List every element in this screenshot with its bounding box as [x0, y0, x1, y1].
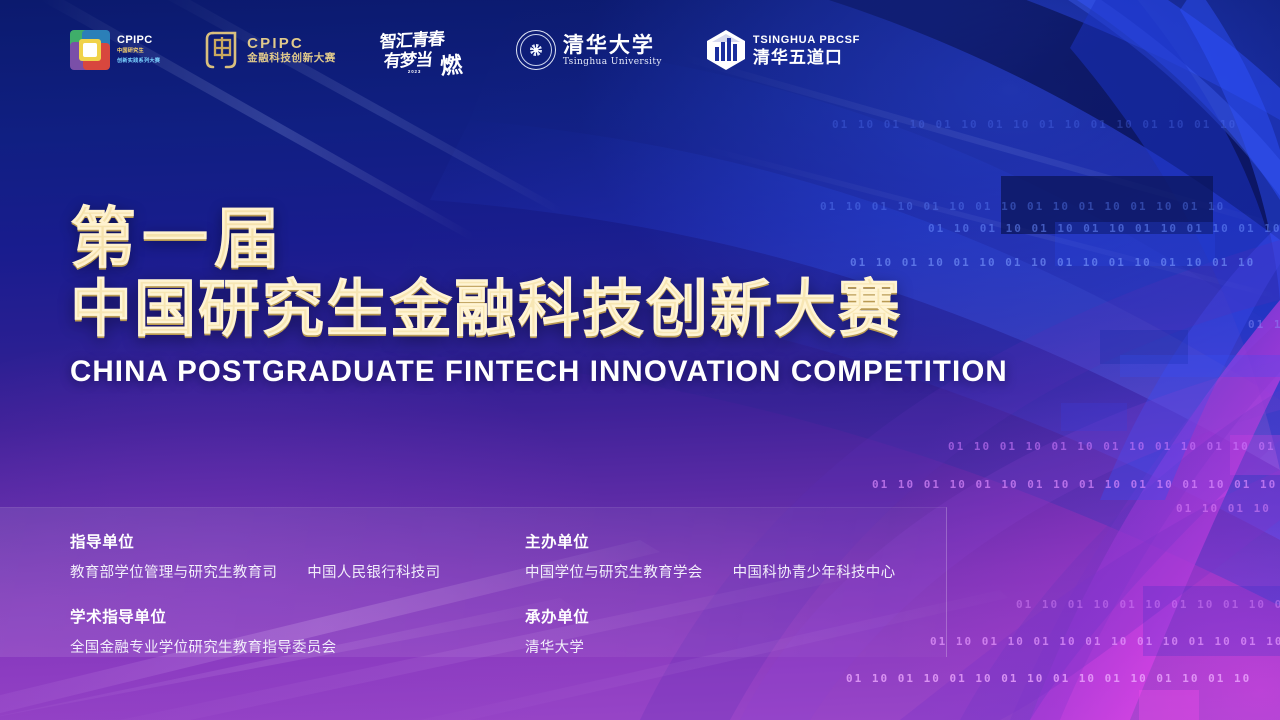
group-items: 清华大学 [525, 636, 895, 657]
binary-row: 01 10 01 10 01 10 01 10 01 10 01 10 01 1… [930, 635, 1280, 648]
binary-row: 01 10 01 10 01 10 01 10 01 10 01 10 01 1… [846, 672, 1251, 685]
group-items: 教育部学位管理与研究生教育司 中国人民银行科技司 [70, 561, 525, 582]
binary-row: 01 10 01 10 01 10 01 10 01 10 01 10 01 1… [1176, 502, 1280, 515]
binary-row: 01 10 01 10 01 10 01 10 01 10 01 10 01 1… [872, 478, 1277, 491]
pbcsf-cn: 清华五道口 [753, 49, 860, 66]
group-heading: 学术指导单位 [70, 605, 525, 627]
callig-year: 2023 [408, 69, 421, 74]
glow-pink [1050, 520, 1280, 720]
title-english: CHINA POSTGRADUATE FINTECH INNOVATION CO… [70, 355, 1008, 389]
title-main: 中国研究生金融科技创新大赛 [70, 278, 1008, 342]
logo1-cn1: 中国研究生 [117, 48, 160, 55]
sponsor-logo-bar: CPIPC 中国研究生 创新实践系列大赛 CPIPC 金融科技创新大赛 智汇青春… [0, 0, 1280, 100]
logo1-en: CPIPC [117, 35, 160, 46]
title-block: 第一届 中国研究生金融科技创新大赛 CHINA POSTGRADUATE FIN… [70, 205, 1008, 389]
logo-cpipc-gold[interactable]: CPIPC 金融科技创新大赛 [204, 23, 336, 77]
cpipc-gold-icon [204, 30, 240, 70]
tsinghua-cn: 清华大学 [563, 34, 662, 55]
callig-line3: 燃 [438, 47, 463, 81]
logo-tsinghua-pbcsf[interactable]: TSINGHUA PBCSF 清华五道口 [706, 23, 860, 77]
organizers-right-column: 主办单位 中国学位与研究生教育学会 中国科协青少年科技中心 承办单位 清华大学 [525, 530, 895, 657]
group-items: 中国学位与研究生教育学会 中国科协青少年科技中心 [525, 561, 895, 582]
org-item: 全国金融专业学位研究生教育指导委员会 [70, 636, 336, 657]
calligraphy-icon: 智汇青春 有梦当 燃 2023 [380, 24, 472, 76]
poster-stage: 01 10 01 10 01 10 01 10 01 10 01 10 01 1… [0, 0, 1280, 720]
callig-line2: 有梦当 [383, 45, 433, 72]
pbcsf-en: TSINGHUA PBCSF [753, 35, 860, 46]
logo2-en: CPIPC [247, 36, 336, 51]
org-item: 中国学位与研究生教育学会 [525, 561, 703, 582]
org-item: 清华大学 [525, 636, 584, 657]
logo-tsinghua-university[interactable]: 清华大学 Tsinghua University [516, 23, 662, 77]
tsinghua-en: Tsinghua University [563, 58, 662, 67]
logo-cpipc-color-emblem[interactable]: CPIPC 中国研究生 创新实践系列大赛 [70, 23, 160, 77]
title-edition: 第一届 [70, 205, 1008, 272]
tsinghua-seal-icon [516, 30, 556, 70]
binary-row: 01 10 01 10 01 10 01 10 01 10 01 10 01 1… [948, 440, 1280, 453]
binary-row: 01 10 01 10 01 10 01 10 01 10 01 10 01 1… [1016, 598, 1280, 611]
cpipc-color-emblem-icon [70, 30, 110, 70]
binary-row: 01 10 01 10 01 10 01 10 01 10 01 10 01 1… [832, 118, 1237, 131]
logo1-cn2: 创新实践系列大赛 [117, 58, 160, 65]
group-heading: 指导单位 [70, 530, 525, 552]
organizers-panel: 指导单位 教育部学位管理与研究生教育司 中国人民银行科技司 学术指导单位 全国金… [0, 507, 947, 657]
pbcsf-building-icon [706, 29, 746, 71]
group-heading: 承办单位 [525, 605, 895, 627]
group-heading: 主办单位 [525, 530, 895, 552]
group-items: 全国金融专业学位研究生教育指导委员会 [70, 636, 525, 657]
org-item: 教育部学位管理与研究生教育司 [70, 561, 277, 582]
org-item: 中国人民银行科技司 [307, 561, 440, 582]
binary-row: 01 10 01 10 01 10 01 10 01 10 01 10 01 1… [1248, 318, 1280, 331]
logo-calligraphy-slogan[interactable]: 智汇青春 有梦当 燃 2023 [380, 23, 472, 77]
organizers-left-column: 指导单位 教育部学位管理与研究生教育司 中国人民银行科技司 学术指导单位 全国金… [70, 530, 525, 657]
org-item: 中国科协青少年科技中心 [733, 561, 896, 582]
logo2-cn: 金融科技创新大赛 [247, 53, 336, 64]
